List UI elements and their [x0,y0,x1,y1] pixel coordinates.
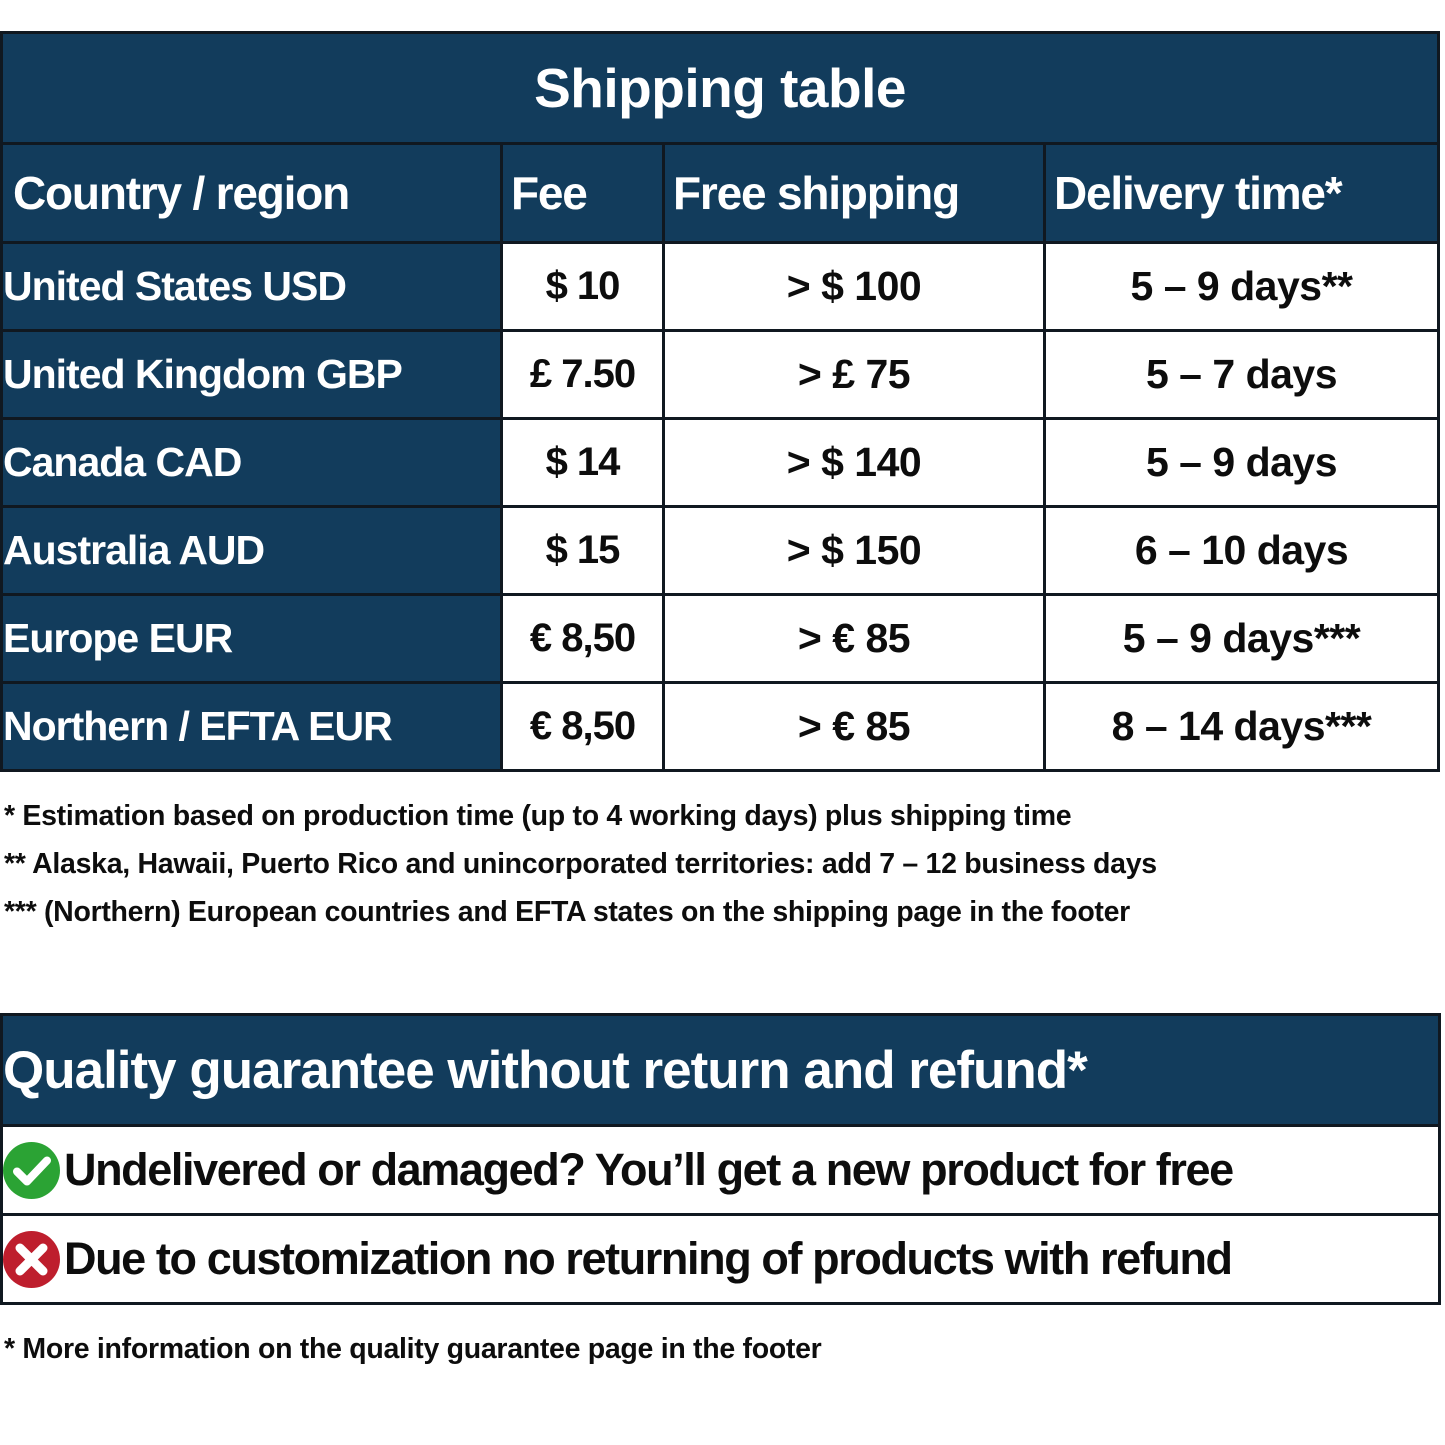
cell-delivery-time: 6 – 10 days [1045,507,1439,595]
cell-free-shipping: > £ 75 [664,331,1045,419]
shipping-table: Shipping table Country / region Fee Free… [0,31,1440,772]
footnote-single-asterisk: * Estimation based on production time (u… [4,792,1445,840]
guarantee-row-negative: Due to customization no returning of pro… [2,1215,1440,1304]
cell-free-shipping: > $ 150 [664,507,1045,595]
quality-guarantee-footnote: * More information on the quality guaran… [4,1333,821,1366]
table-row: United States USD $ 10 > $ 100 5 – 9 day… [2,243,1439,331]
table-title-row: Shipping table [2,33,1439,144]
cell-delivery-time: 5 – 9 days** [1045,243,1439,331]
guarantee-row-positive: Undelivered or damaged? You’ll get a new… [2,1126,1440,1215]
column-header-delivery-time: Delivery time* [1045,144,1439,243]
cell-fee: $ 15 [502,507,664,595]
table-row: Australia AUD $ 15 > $ 150 6 – 10 days [2,507,1439,595]
guarantee-text-negative: Due to customization no returning of pro… [64,1233,1232,1285]
column-header-fee: Fee [502,144,664,243]
column-header-country: Country / region [2,144,502,243]
shipping-footnotes: * Estimation based on production time (u… [4,792,1445,936]
cross-circle-icon [3,1231,60,1288]
cell-fee: £ 7.50 [502,331,664,419]
footnote-double-asterisk: ** Alaska, Hawaii, Puerto Rico and uninc… [4,840,1445,888]
cell-fee: € 8,50 [502,683,664,771]
cell-free-shipping: > € 85 [664,595,1045,683]
cell-fee: $ 10 [502,243,664,331]
cell-country: Canada CAD [2,419,502,507]
cell-country: Australia AUD [2,507,502,595]
shipping-table-title: Shipping table [2,33,1439,144]
cell-delivery-time: 5 – 9 days*** [1045,595,1439,683]
check-circle-icon [3,1142,60,1199]
cell-delivery-time: 5 – 7 days [1045,331,1439,419]
quality-guarantee-title: Quality guarantee without return and ref… [2,1015,1440,1126]
cell-fee: € 8,50 [502,595,664,683]
shipping-table-section: Shipping table Country / region Fee Free… [0,31,1437,772]
cell-country: Northern / EFTA EUR [2,683,502,771]
cell-delivery-time: 8 – 14 days*** [1045,683,1439,771]
cell-delivery-time: 5 – 9 days [1045,419,1439,507]
table-row: Europe EUR € 8,50 > € 85 5 – 9 days*** [2,595,1439,683]
cell-country: Europe EUR [2,595,502,683]
cell-fee: $ 14 [502,419,664,507]
guarantee-title-row: Quality guarantee without return and ref… [2,1015,1440,1126]
cell-free-shipping: > $ 140 [664,419,1045,507]
cell-free-shipping: > € 85 [664,683,1045,771]
cell-country: United States USD [2,243,502,331]
column-header-free-shipping: Free shipping [664,144,1045,243]
table-header-row: Country / region Fee Free shipping Deliv… [2,144,1439,243]
cell-country: United Kingdom GBP [2,331,502,419]
quality-guarantee-table: Quality guarantee without return and ref… [0,1013,1441,1305]
guarantee-text-positive: Undelivered or damaged? You’ll get a new… [64,1144,1233,1196]
shipping-and-guarantee-infographic: Shipping table Country / region Fee Free… [0,0,1445,1445]
table-row: Canada CAD $ 14 > $ 140 5 – 9 days [2,419,1439,507]
cell-free-shipping: > $ 100 [664,243,1045,331]
table-row: Northern / EFTA EUR € 8,50 > € 85 8 – 14… [2,683,1439,771]
table-row: United Kingdom GBP £ 7.50 > £ 75 5 – 7 d… [2,331,1439,419]
footnote-triple-asterisk: *** (Northern) European countries and EF… [4,888,1445,936]
quality-guarantee-section: Quality guarantee without return and ref… [0,1013,1441,1305]
